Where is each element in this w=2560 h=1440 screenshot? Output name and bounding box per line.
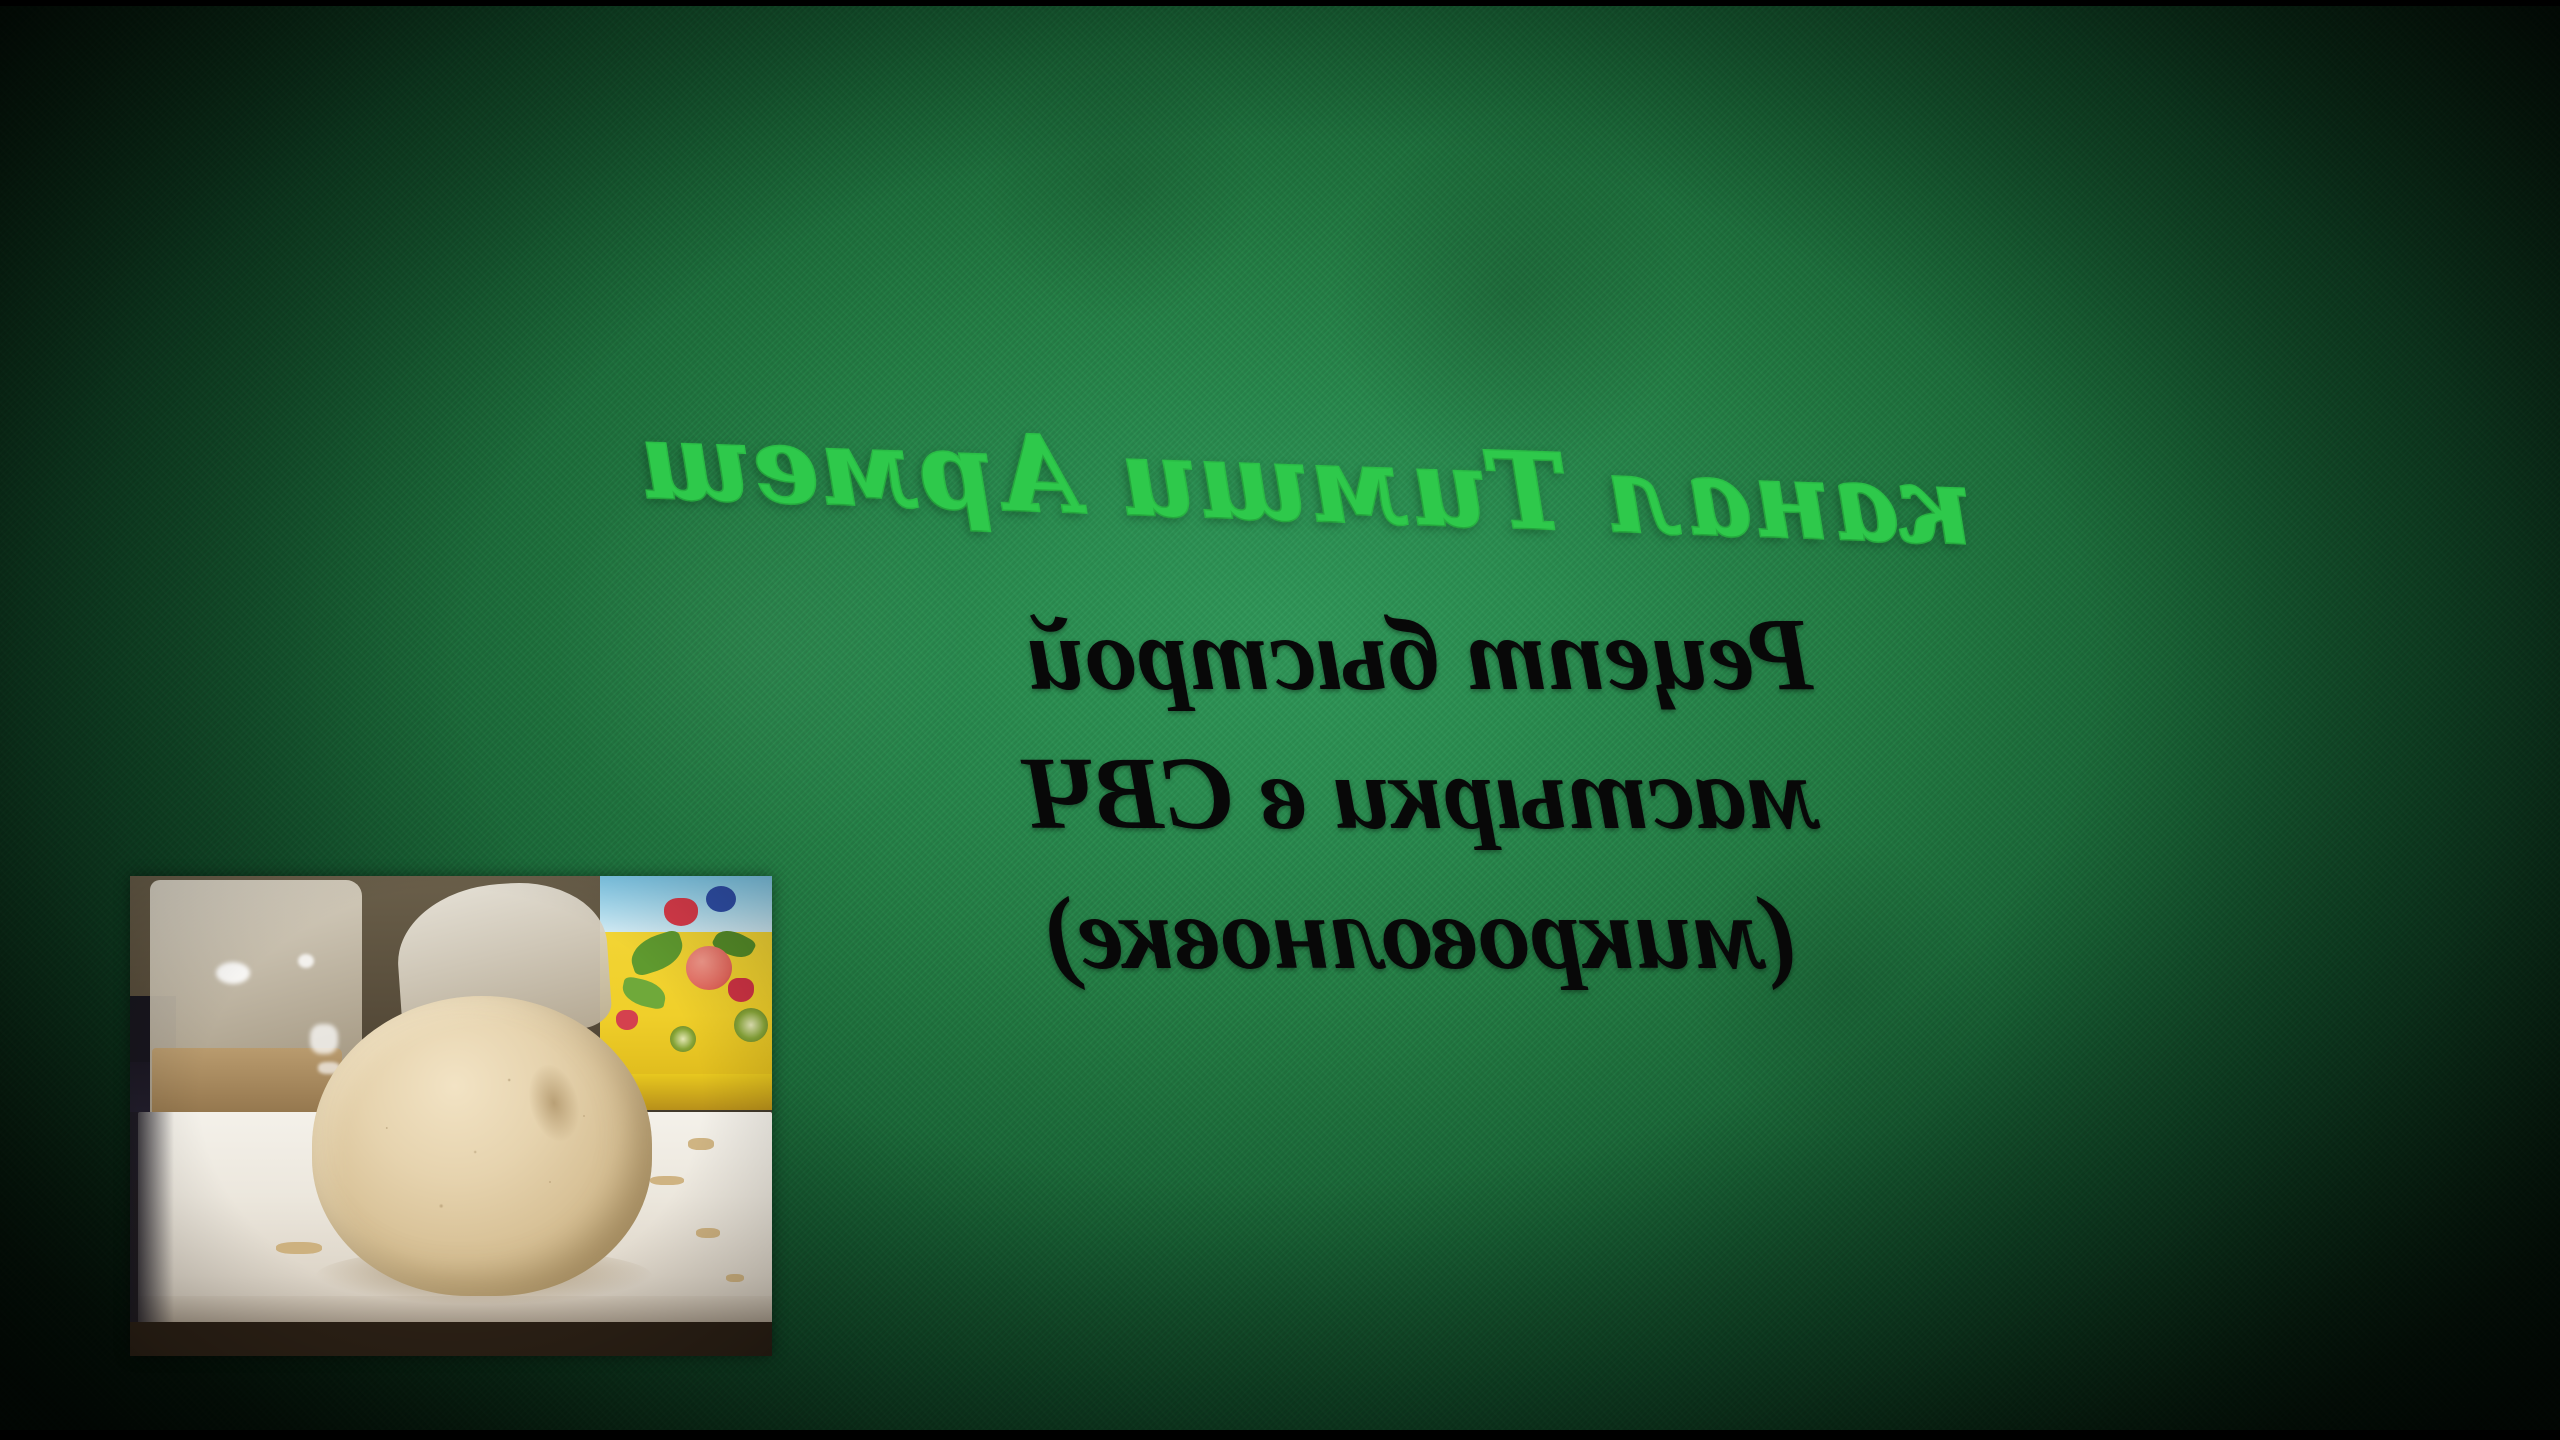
photo-color-grade	[130, 876, 772, 1356]
video-title: Рецепт быстрой мастырки в СВЧ (микроволн…	[760, 585, 2080, 1003]
video-frame: канал Тимши Армеш Рецепт быстрой мастырк…	[0, 0, 2560, 1440]
inset-photo	[130, 876, 772, 1356]
letterbox-bar-bottom	[0, 1430, 2560, 1440]
title-line-1: Рецепт быстрой	[760, 585, 2080, 724]
title-line-3: (микроволновке)	[760, 864, 2080, 1003]
title-line-2: мастырки в СВЧ	[760, 724, 2080, 863]
letterbox-bar-top	[0, 0, 2560, 6]
